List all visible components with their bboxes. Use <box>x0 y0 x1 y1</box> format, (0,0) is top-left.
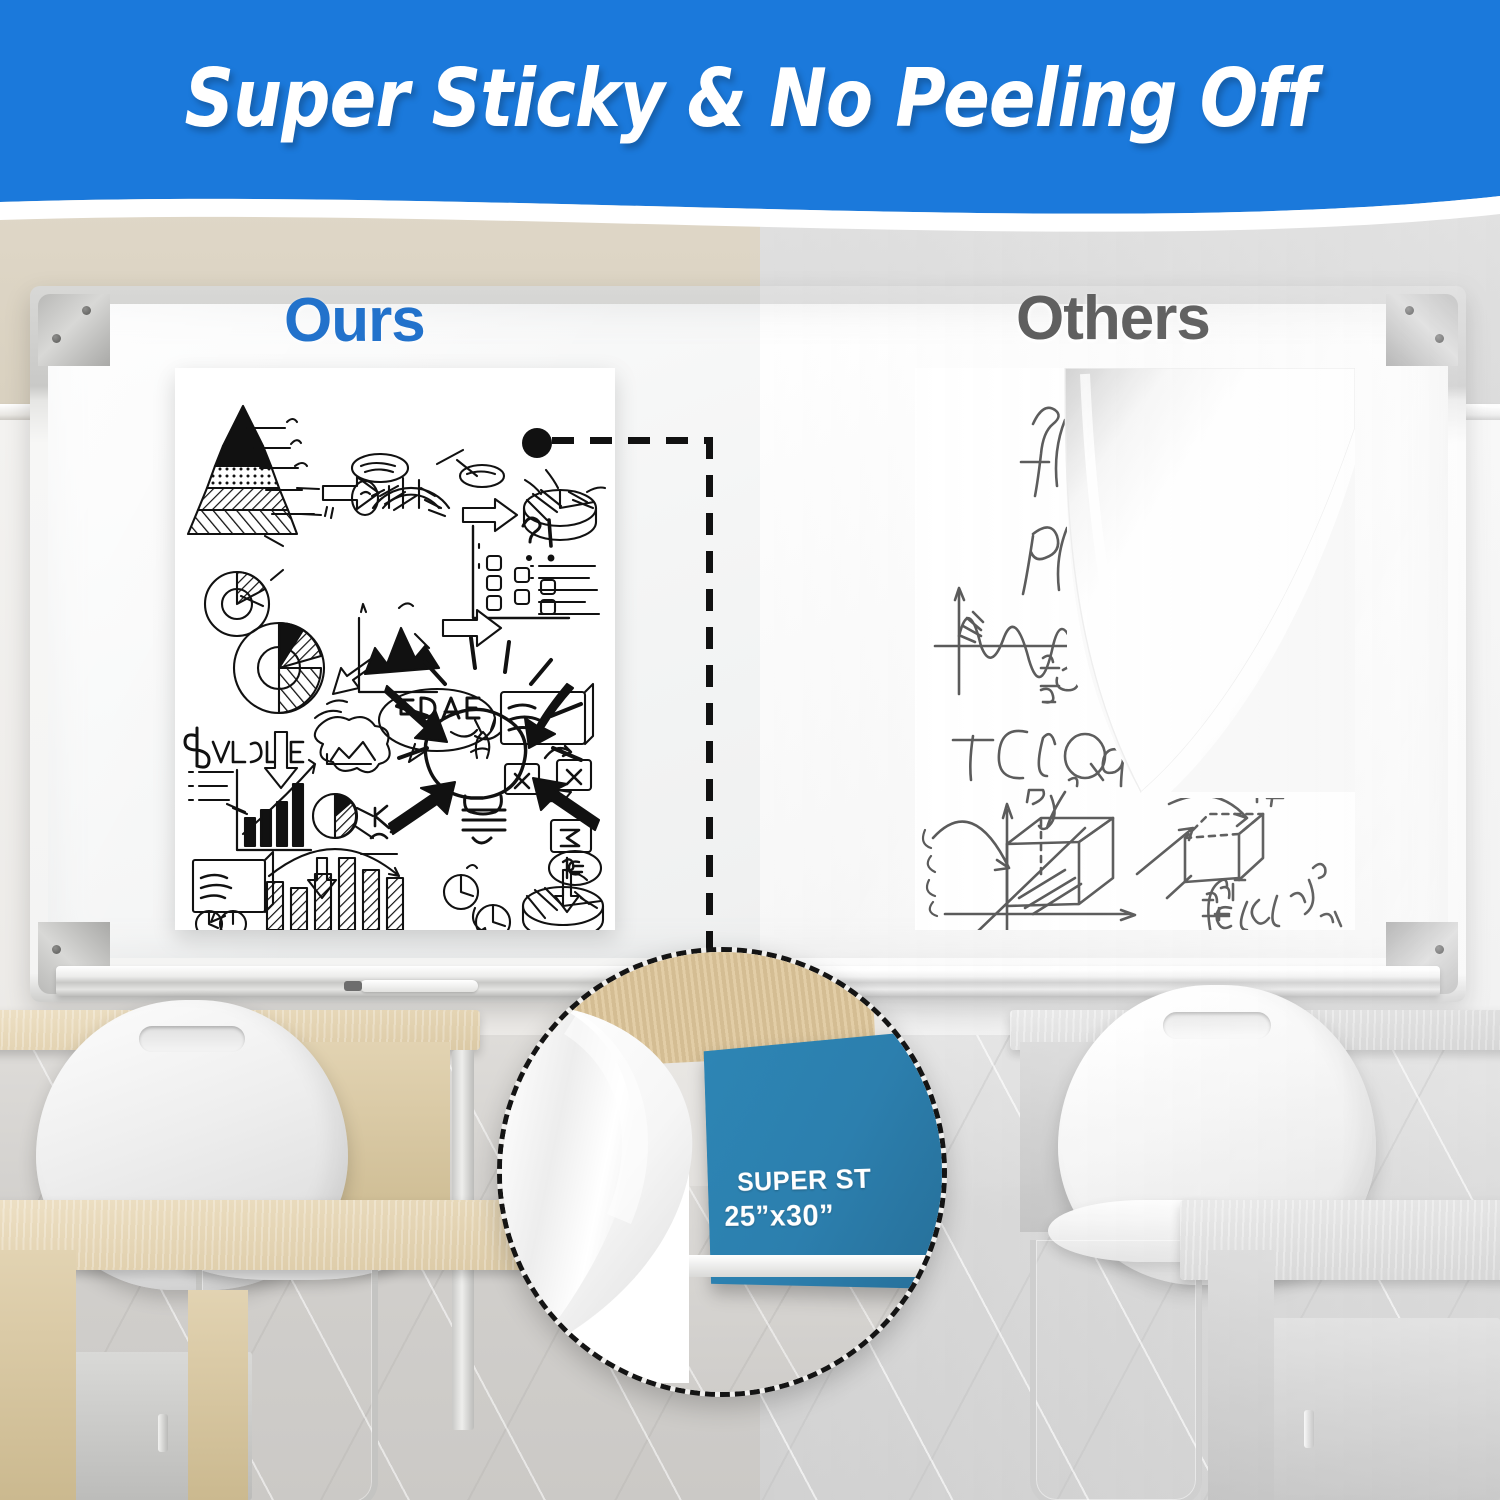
peeling-sheet-curl <box>497 983 805 1383</box>
callout-line-horizontal <box>552 437 712 444</box>
desk-left-front-panel <box>0 1250 76 1500</box>
dry-erase-marker <box>360 980 478 992</box>
product-comparison-image: Ours Others <box>0 0 1500 1500</box>
cabinet-handle <box>158 1414 168 1452</box>
ours-label: Ours <box>284 290 425 352</box>
chair-handle-slot <box>139 1026 245 1052</box>
desk-left-front <box>0 1200 580 1270</box>
callout-line-vertical <box>706 437 713 957</box>
frame-corner-top-left <box>38 294 110 366</box>
magnifier-inset: SUPER ST 25”x30” <box>497 947 947 1397</box>
ours-doodles <box>175 368 615 930</box>
magnifier-content: SUPER ST 25”x30” <box>497 947 947 1397</box>
callout-anchor-dot <box>522 428 552 458</box>
ours-sheet <box>175 368 615 930</box>
desk-left-front-panel2 <box>188 1290 248 1500</box>
